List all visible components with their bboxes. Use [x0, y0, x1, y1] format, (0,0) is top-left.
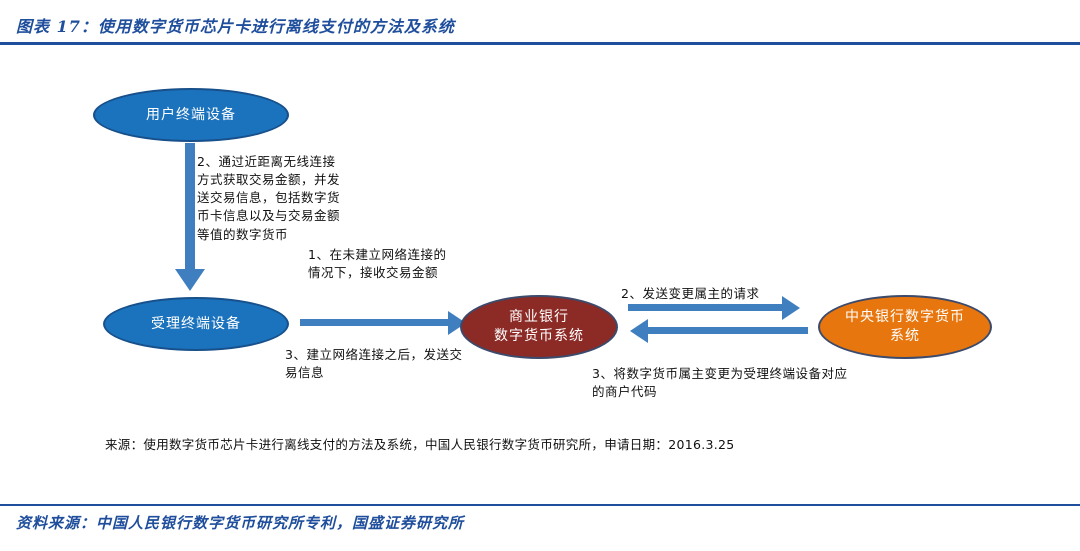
figure-title: 图表 17：使用数字货币芯片卡进行离线支付的方法及系统	[16, 13, 455, 37]
annotation-step1-offline-amount: 1、在未建立网络连接的情况下，接收交易金额	[308, 246, 458, 282]
node-user-terminal: 用户终端设备	[93, 88, 289, 142]
node-commercial-bank-label: 商业银行 数字货币系统	[494, 308, 584, 346]
annotation-step2-user-to-terminal: 2、通过近距离无线连接方式获取交易金额，并发送交易信息，包括数字货币卡信息以及与…	[197, 153, 347, 244]
annotation-step3-send-after-connect: 3、建立网络连接之后，发送交易信息	[285, 346, 475, 382]
arrow-user-to-terminal-head-icon	[175, 269, 205, 291]
arrow-central-to-bank-shaft	[648, 327, 808, 334]
node-commercial-bank: 商业银行 数字货币系统	[460, 295, 618, 359]
diagram-canvas: 用户终端设备 受理终端设备 商业银行 数字货币系统 中央银行数字货币 系统 2、…	[0, 45, 1080, 503]
annotation-step3-change-owner-to-merchant: 3、将数字货币属主变更为受理终端设备对应的商户代码	[592, 365, 852, 401]
arrow-central-to-bank-head-icon	[630, 319, 648, 343]
node-acceptance-terminal-label: 受理终端设备	[151, 315, 241, 334]
node-central-bank: 中央银行数字货币 系统	[818, 295, 992, 359]
arrow-terminal-to-bank-shaft	[300, 319, 450, 326]
node-user-terminal-label: 用户终端设备	[146, 106, 236, 125]
node-acceptance-terminal: 受理终端设备	[103, 297, 289, 351]
arrow-user-to-terminal-shaft	[185, 143, 195, 269]
node-central-bank-label: 中央银行数字货币 系统	[845, 308, 965, 346]
annotation-step2-change-owner-request: 2、发送变更属主的请求	[621, 285, 831, 303]
diagram-source-note: 来源：使用数字货币芯片卡进行离线支付的方法及系统，中国人民银行数字货币研究所，申…	[105, 435, 805, 454]
footer-source-label: 资料来源：中国人民银行数字货币研究所专利，国盛证券研究所	[16, 512, 464, 533]
arrow-bank-to-central-shaft	[628, 304, 786, 311]
footer-divider	[0, 504, 1080, 506]
